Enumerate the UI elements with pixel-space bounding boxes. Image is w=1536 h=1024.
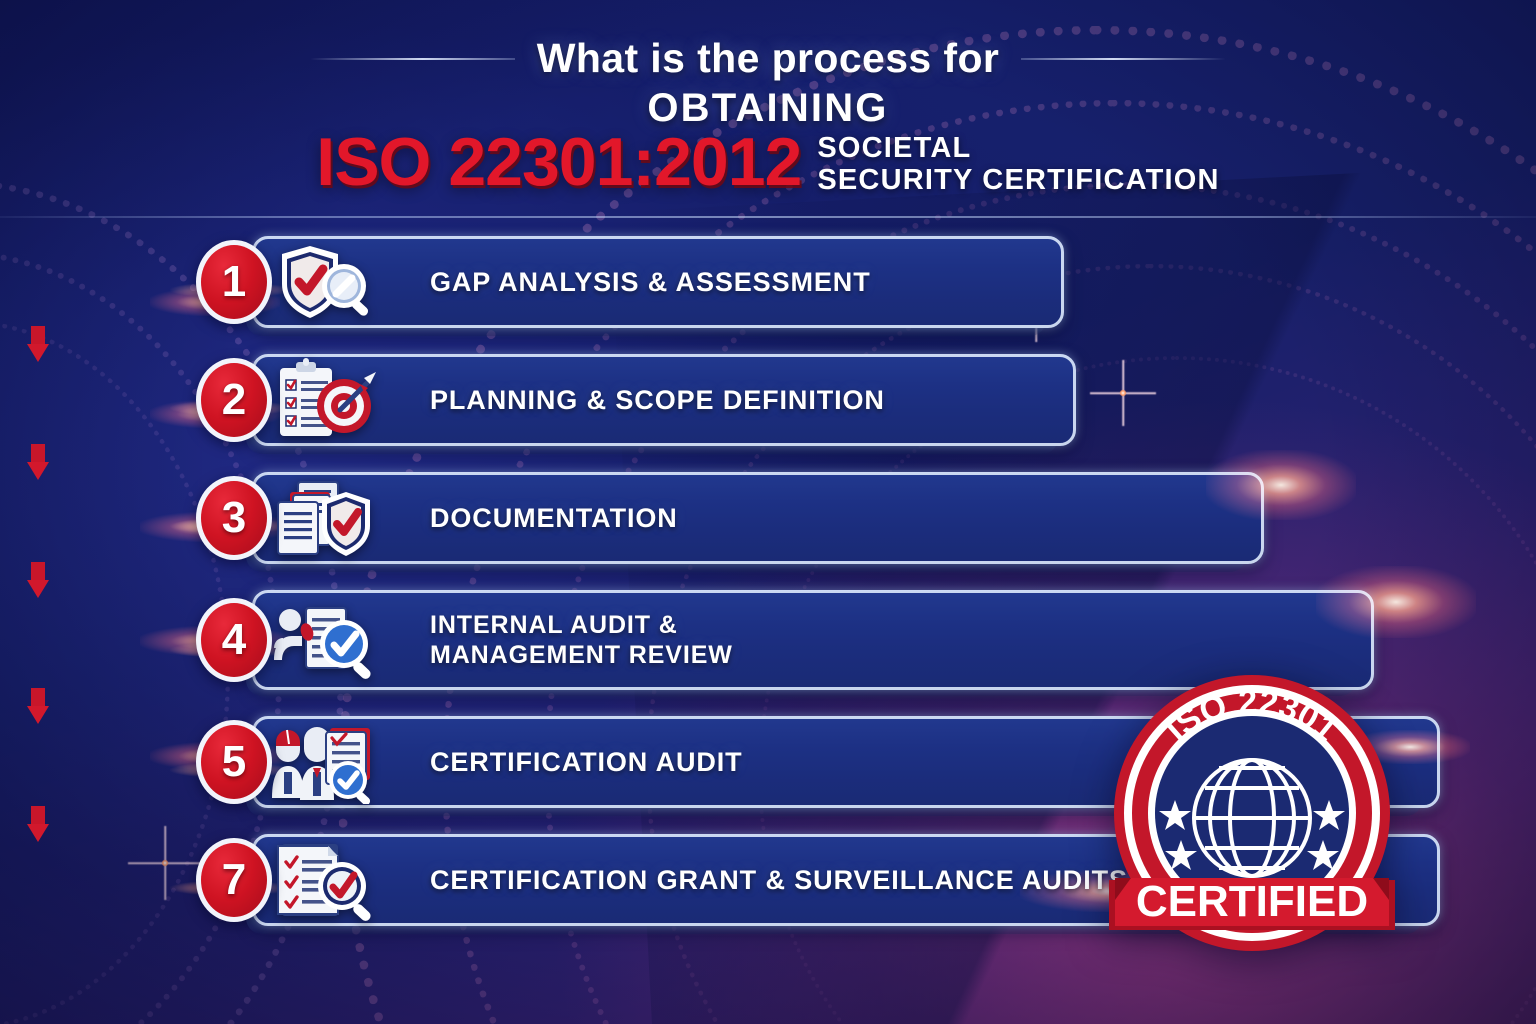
seal-ribbon-text: CERTIFIED (1136, 877, 1368, 926)
step-number: 4 (222, 618, 246, 662)
step-number: 3 (222, 496, 246, 540)
divider-rule-left (310, 58, 515, 60)
certification-seal: ISO 22301 CERTIFIED (1107, 668, 1397, 958)
step-connector-arrow (27, 688, 49, 724)
header-divider (0, 216, 1536, 218)
step-label: CERTIFICATION AUDIT (430, 746, 743, 779)
step-number-badge: 2 (196, 358, 272, 442)
shield-check-magnifier-icon (270, 240, 378, 324)
step-number-badge: 3 (196, 476, 272, 560)
step-number-badge: 5 (196, 720, 272, 804)
iso-standard-number: ISO 22301:2012 (316, 128, 801, 196)
subject-line-2: SECURITY CERTIFICATION (817, 164, 1219, 196)
divider-rule-right (1021, 58, 1226, 60)
infographic-poster: What is the process for OBTAINING ISO 22… (0, 0, 1536, 1024)
person-document-check-magnifier-icon (270, 600, 378, 684)
documents-shield-check-icon (270, 476, 378, 560)
step-connector-arrow (27, 562, 49, 598)
step-label: PLANNING & SCOPE DEFINITION (430, 384, 885, 417)
standard-row: ISO 22301:2012 SOCIETAL SECURITY CERTIFI… (0, 128, 1536, 197)
step-connector-arrow (27, 444, 49, 480)
step-label: INTERNAL AUDIT & MANAGEMENT REVIEW (430, 610, 733, 671)
poster-header: What is the process for OBTAINING ISO 22… (0, 0, 1536, 218)
subject-text-block: SOCIETAL SECURITY CERTIFICATION (817, 128, 1219, 197)
step-label: GAP ANALYSIS & ASSESSMENT (430, 266, 871, 299)
step-number-badge: 4 (196, 598, 272, 682)
auditors-clipboard-check-icon (270, 720, 378, 804)
subject-line-1: SOCIETAL (817, 132, 1219, 164)
step-label: DOCUMENTATION (430, 502, 678, 535)
step-number-badge: 7 (196, 838, 272, 922)
clipboard-target-dart-icon (270, 358, 378, 442)
kicker-text: What is the process for (537, 35, 1000, 82)
kicker-row: What is the process for (0, 35, 1536, 82)
step-number: 1 (222, 260, 246, 304)
step-connector-arrow (27, 806, 49, 842)
step-number: 2 (222, 378, 246, 422)
checklist-magnifier-check-icon (270, 838, 378, 922)
step-number-badge: 1 (196, 240, 272, 324)
step-number: 5 (222, 740, 246, 784)
step-bar[interactable]: DOCUMENTATION (252, 472, 1264, 564)
step-number: 7 (222, 858, 246, 902)
step-connector-arrow (27, 326, 49, 362)
step-label: CERTIFICATION GRANT & SURVEILLANCE AUDIT… (430, 864, 1128, 897)
